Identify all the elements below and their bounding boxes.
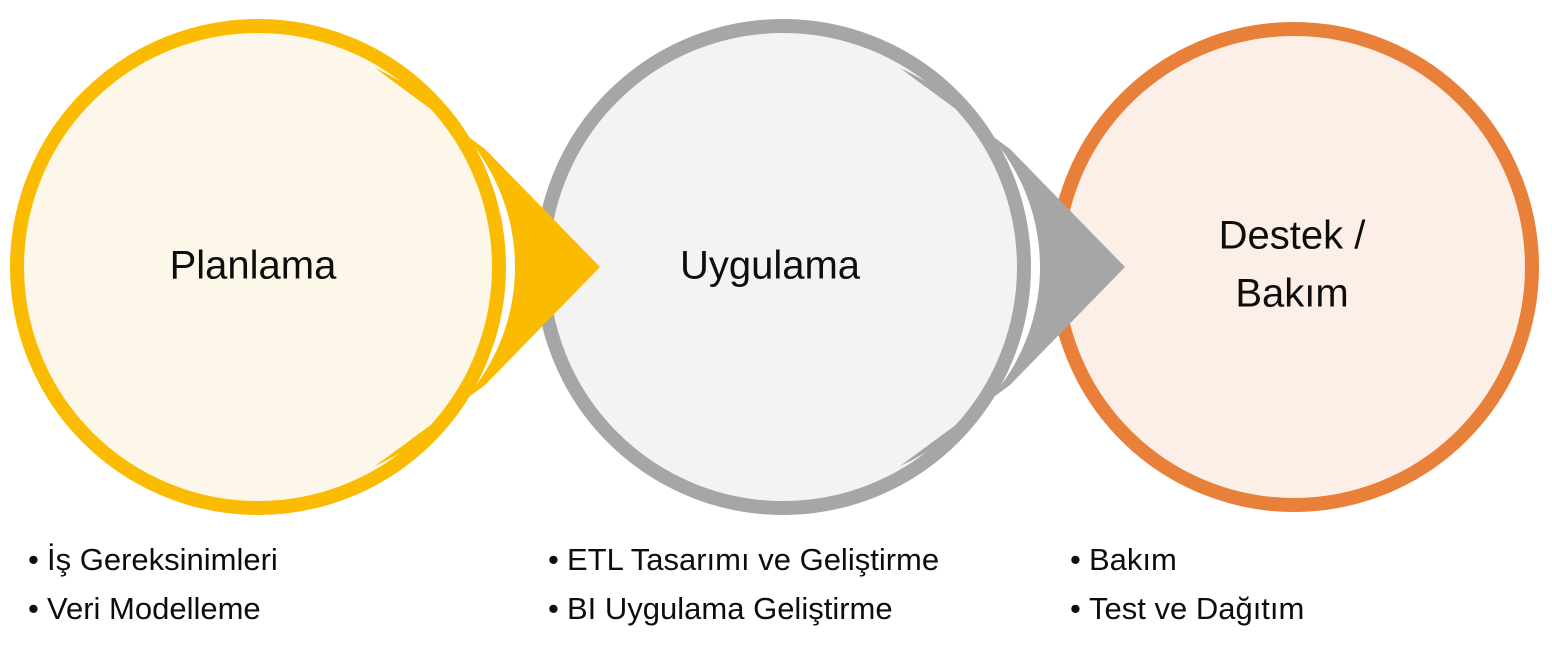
bullet-list-planlama: • İş Gereksinimleri • Veri Modelleme [28, 536, 278, 634]
list-item: • Test ve Dağıtım [1070, 585, 1304, 634]
bullet-list-uygulama: • ETL Tasarımı ve Geliştirme • BI Uygula… [548, 536, 939, 634]
bullet-marker-icon: • [548, 544, 567, 575]
list-item: • Veri Modelleme [28, 585, 278, 634]
stage-title-destek-line1: Destek / [1219, 214, 1367, 258]
bullet-marker-icon: • [28, 593, 47, 624]
stage-circle-destek[interactable] [1056, 29, 1532, 505]
stage-title-destek-line2: Bakım [1235, 272, 1348, 316]
bullet-text: Bakım [1089, 536, 1177, 585]
destek-circle-shape [1056, 29, 1532, 505]
bullet-marker-icon: • [548, 593, 567, 624]
bullet-marker-icon: • [1070, 593, 1089, 624]
bullet-text: BI Uygulama Geliştirme [567, 585, 893, 634]
bullet-list-destek: • Bakım • Test ve Dağıtım [1070, 536, 1304, 634]
list-item: • Bakım [1070, 536, 1304, 585]
bullet-marker-icon: • [1070, 544, 1089, 575]
list-item: • ETL Tasarımı ve Geliştirme [548, 536, 939, 585]
list-item: • BI Uygulama Geliştirme [548, 585, 939, 634]
bullet-marker-icon: • [28, 544, 47, 575]
diagram-canvas: Planlama Uygulama Destek / Bakım • İş Ge… [0, 0, 1552, 672]
bullet-text: Test ve Dağıtım [1089, 585, 1304, 634]
bullet-text: ETL Tasarımı ve Geliştirme [567, 536, 939, 585]
bullet-text: Veri Modelleme [47, 585, 261, 634]
stage-title-uygulama: Uygulama [680, 244, 861, 288]
stage-title-planlama: Planlama [170, 244, 338, 288]
list-item: • İş Gereksinimleri [28, 536, 278, 585]
bullet-text: İş Gereksinimleri [47, 536, 278, 585]
